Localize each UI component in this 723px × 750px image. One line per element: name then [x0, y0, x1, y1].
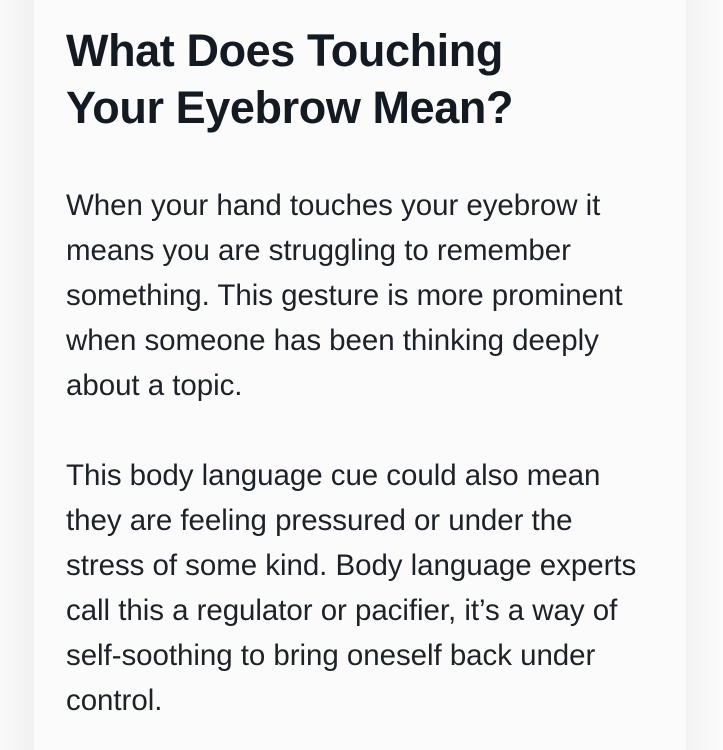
page-title: What Does Touching Your Eyebrow Mean?	[66, 0, 586, 136]
article-body: What Does Touching Your Eyebrow Mean? Wh…	[34, 0, 686, 723]
page-surface: What Does Touching Your Eyebrow Mean? Wh…	[0, 0, 723, 750]
article-content-column: What Does Touching Your Eyebrow Mean? Wh…	[34, 0, 686, 750]
left-gutter	[0, 0, 34, 750]
right-gutter	[686, 0, 723, 750]
article-paragraph-2: This body language cue could also mean t…	[66, 453, 648, 723]
article-paragraph-1: When your hand touches your eyebrow it m…	[66, 183, 648, 408]
